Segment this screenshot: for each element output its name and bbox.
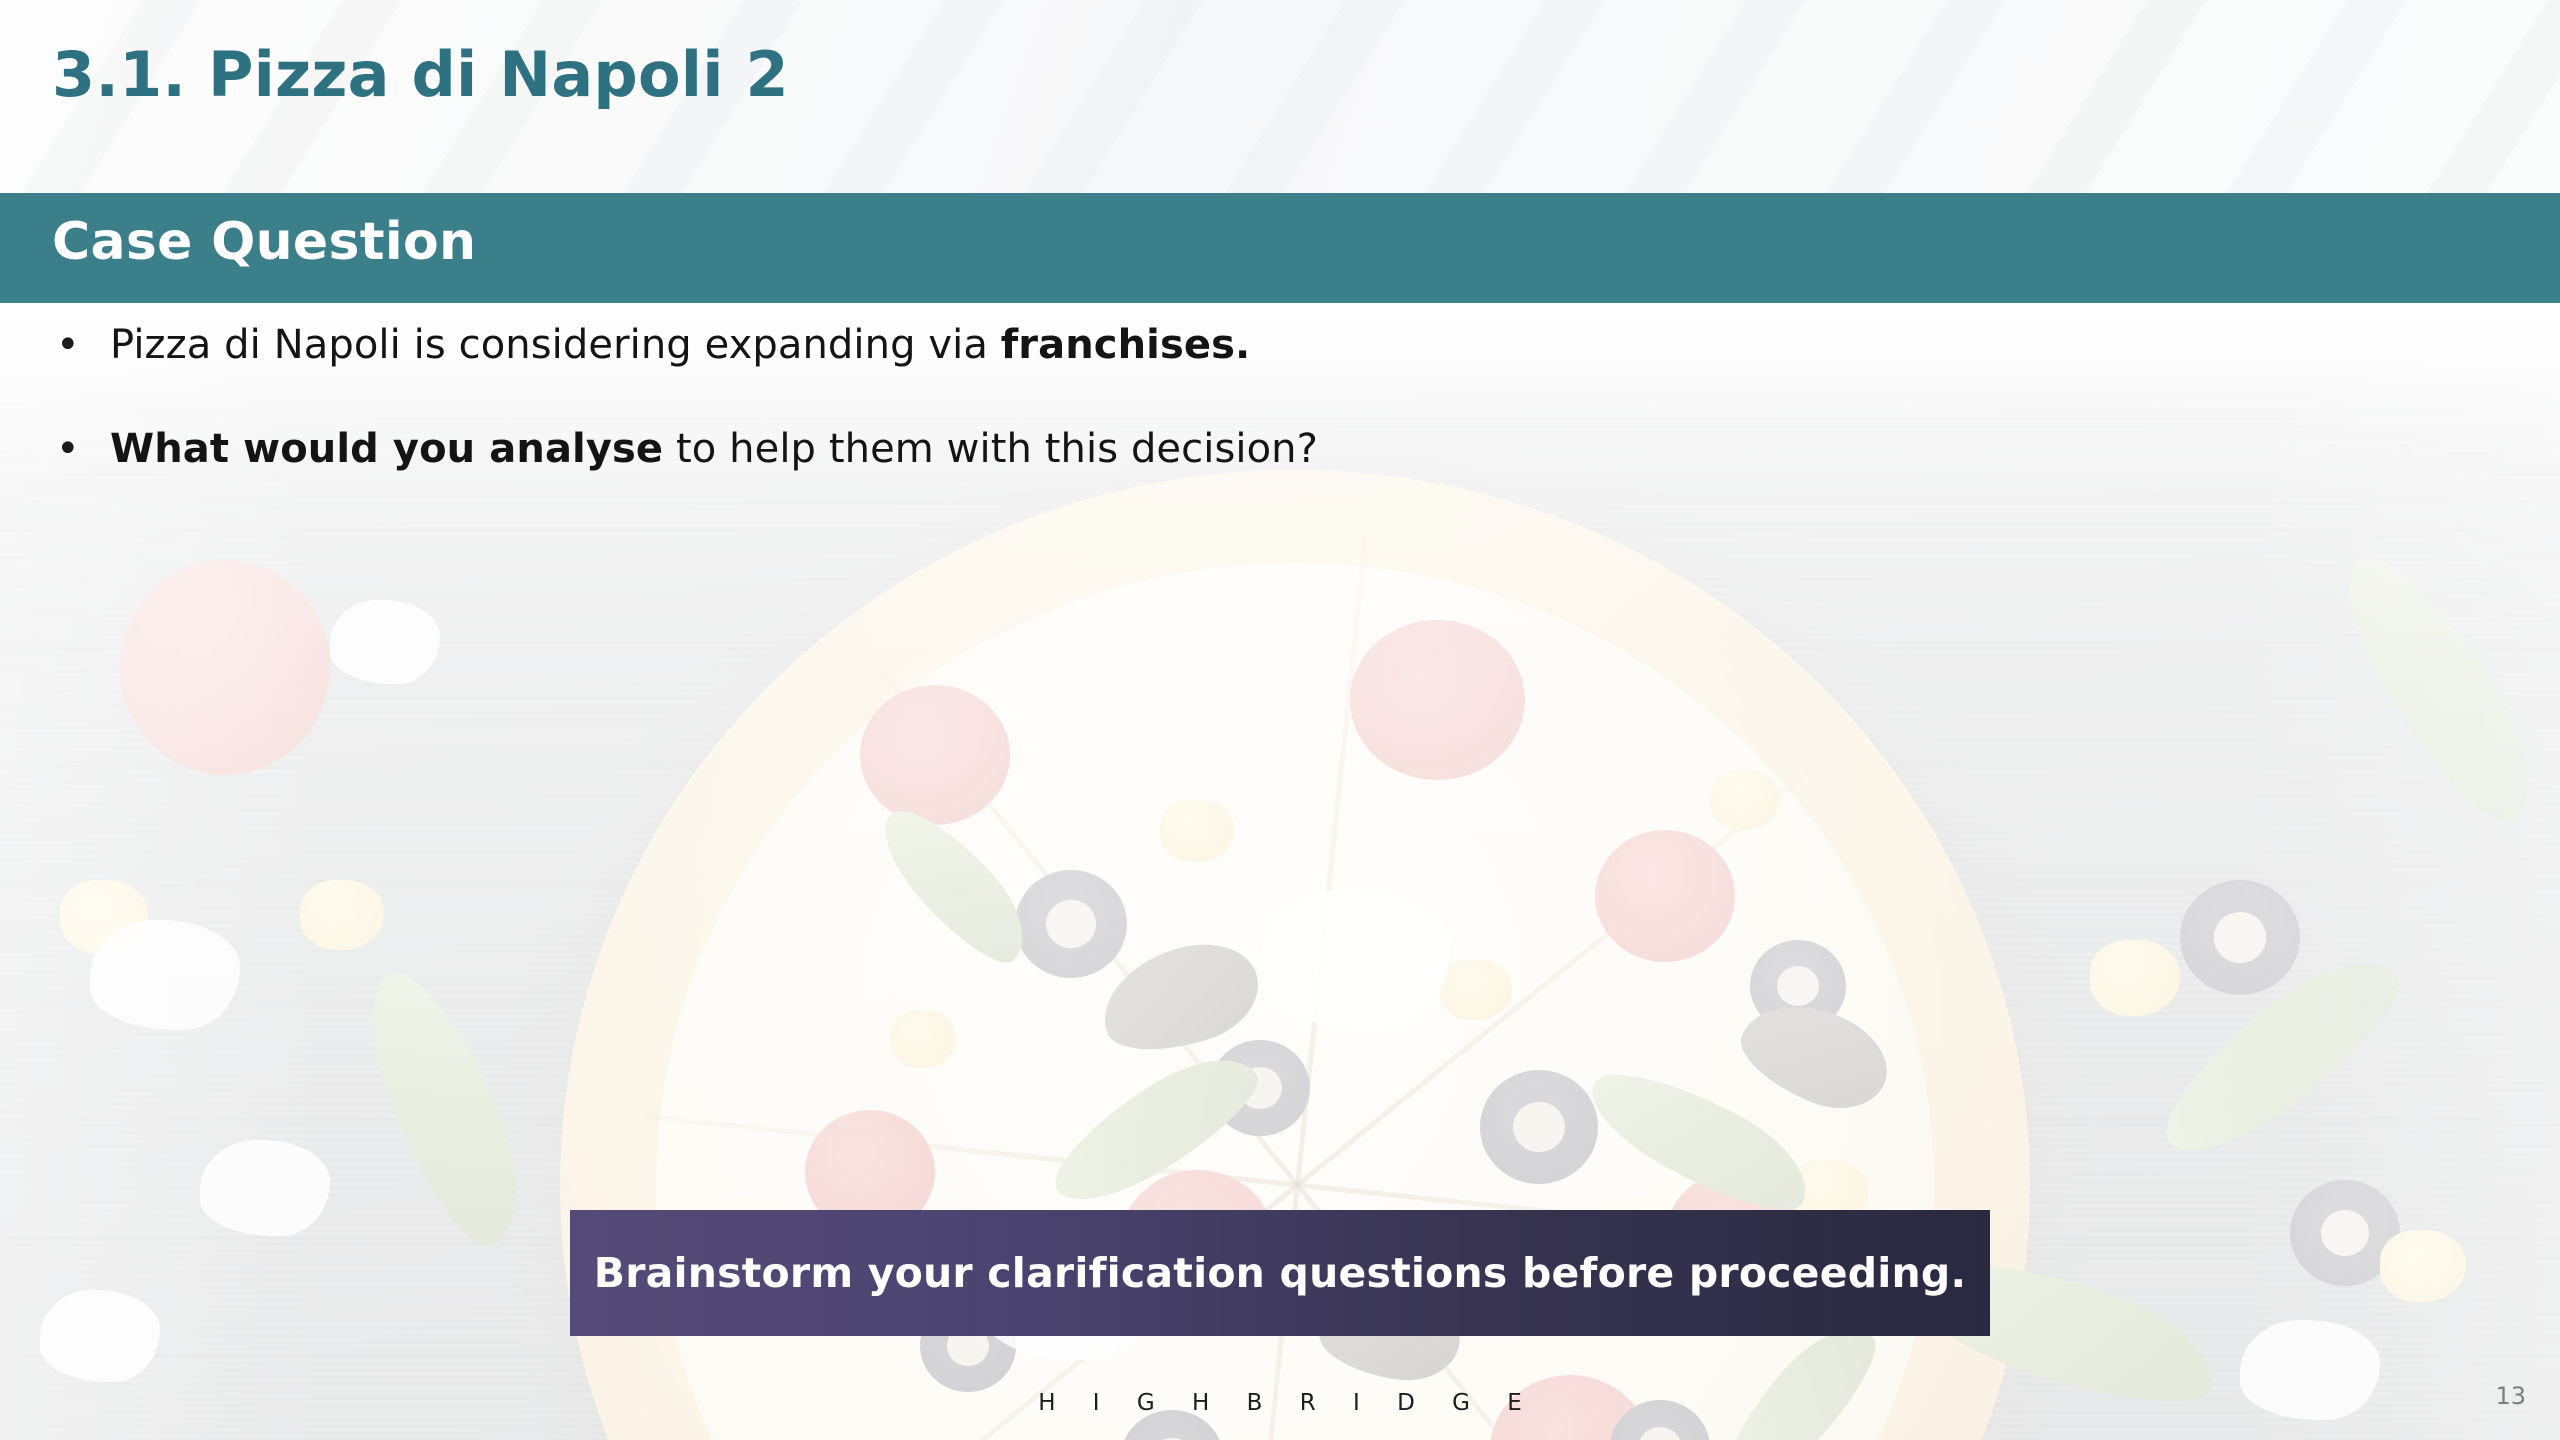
- bullet-text-part-bold: franchises.: [1001, 322, 1251, 368]
- page-title: 3.1. Pizza di Napoli 2: [52, 38, 789, 111]
- list-item: • What would you analyse to help them wi…: [0, 416, 2400, 482]
- bullet-text-part-bold: What would you analyse: [110, 426, 663, 472]
- slide-header: 3.1. Pizza di Napoli 2: [0, 0, 2560, 193]
- bullet-text: What would you analyse to help them with…: [110, 416, 1318, 482]
- callout-text: Brainstorm your clarification questions …: [594, 1249, 1966, 1297]
- brand-footer: H I G H B R I D G E: [0, 1390, 2560, 1416]
- list-item: • Pizza di Napoli is considering expandi…: [0, 312, 2400, 378]
- bullet-text-part: Pizza di Napoli is considering expanding…: [110, 322, 1001, 368]
- bullet-text-part: to help them with this decision?: [663, 426, 1318, 472]
- bullet-marker-icon: •: [52, 312, 110, 378]
- bullet-list: • Pizza di Napoli is considering expandi…: [0, 312, 2400, 520]
- section-label: Case Question: [52, 212, 476, 272]
- page-number: 13: [2495, 1382, 2526, 1410]
- bullet-marker-icon: •: [52, 416, 110, 482]
- callout-banner: Brainstorm your clarification questions …: [570, 1210, 1990, 1336]
- section-band: Case Question: [0, 193, 2560, 303]
- bullet-text: Pizza di Napoli is considering expanding…: [110, 312, 1250, 378]
- slide: 3.1. Pizza di Napoli 2 Case Question • P…: [0, 0, 2560, 1440]
